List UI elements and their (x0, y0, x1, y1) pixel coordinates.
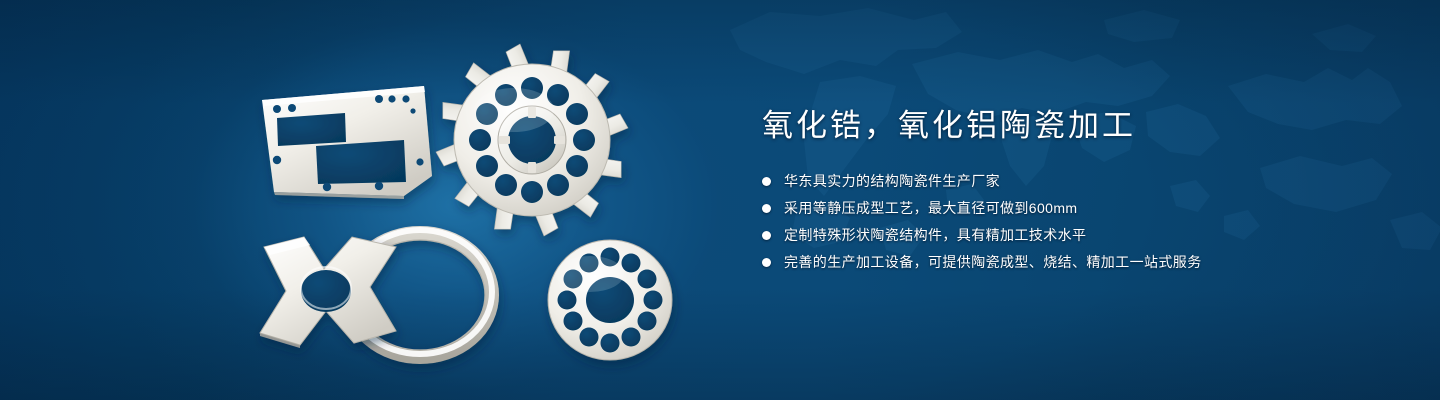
feature-item: 华东具实力的结构陶瓷件生产厂家 (762, 170, 1382, 192)
bullet-dot-icon (762, 177, 771, 186)
feature-item: 采用等静压成型工艺，最大直径可做到600mm (762, 197, 1382, 219)
ceramic-perforated-disc (548, 240, 672, 360)
ceramic-vaned-impeller-disc (436, 44, 628, 236)
feature-list: 华东具实力的结构陶瓷件生产厂家 采用等静压成型工艺，最大直径可做到600mm 定… (762, 170, 1382, 273)
bullet-dot-icon (762, 231, 771, 240)
feature-text: 完善的生产加工设备，可提供陶瓷成型、烧结、精加工一站式服务 (784, 251, 1202, 273)
banner-headline: 氧化锆，氧化铝陶瓷加工 (762, 104, 1382, 148)
bullet-dot-icon (762, 258, 771, 267)
hero-banner: 氧化锆，氧化铝陶瓷加工 华东具实力的结构陶瓷件生产厂家 采用等静压成型工艺，最大… (0, 0, 1440, 400)
feature-text: 华东具实力的结构陶瓷件生产厂家 (784, 170, 1000, 192)
feature-text: 采用等静压成型工艺，最大直径可做到600mm (784, 197, 1077, 219)
banner-copy: 氧化锆，氧化铝陶瓷加工 华东具实力的结构陶瓷件生产厂家 采用等静压成型工艺，最大… (762, 104, 1382, 278)
feature-item: 定制特殊形状陶瓷结构件，具有精加工技术水平 (762, 224, 1382, 246)
ceramic-machined-plate (262, 86, 432, 199)
feature-text: 定制特殊形状陶瓷结构件，具有精加工技术水平 (784, 224, 1086, 246)
ceramic-cross-shaped-plate (260, 237, 396, 348)
feature-item: 完善的生产加工设备，可提供陶瓷成型、烧结、精加工一站式服务 (762, 251, 1382, 273)
product-photo-cluster (0, 0, 740, 400)
bullet-dot-icon (762, 204, 771, 213)
